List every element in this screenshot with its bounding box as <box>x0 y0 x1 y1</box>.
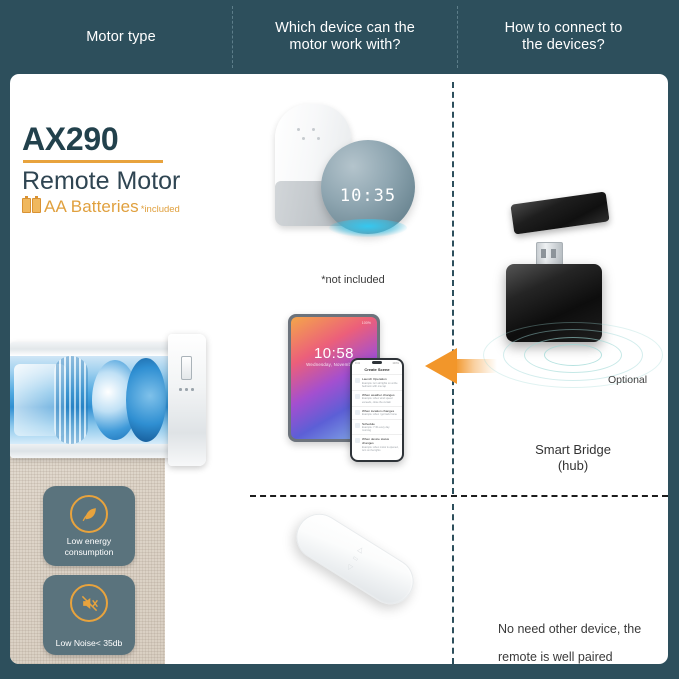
header-label-3: How to connect to the devices? <box>505 20 623 54</box>
battery-text: AA Batteries <box>44 197 139 217</box>
list-item[interactable]: When device status changes Example: when… <box>352 434 402 454</box>
phone-screen: 9:41 100% Create Scene Launch Operation … <box>352 360 402 460</box>
motor-end-cap <box>168 334 206 466</box>
motor-type-panel: AX290 Remote Motor AA Batteries *include… <box>10 74 242 664</box>
no-hub-line-1: No need other device, the <box>498 622 668 636</box>
vertical-divider-top <box>452 82 454 494</box>
list-item[interactable]: When location changes Example: when I go… <box>352 406 402 419</box>
scene-desc: Example: turn all lights on at the bedro… <box>362 382 399 388</box>
leaf-icon <box>70 495 108 533</box>
scene-desc: Example: when I go back home <box>362 413 399 416</box>
title-underline <box>23 160 163 163</box>
phone-app-title: Create Scene <box>352 367 402 372</box>
header-column-connect: How to connect to the devices? <box>458 0 669 74</box>
phone-notch <box>372 361 382 364</box>
scene-name: Launch Operation <box>362 377 399 381</box>
echo-dot-speaker: 10:35 <box>321 140 415 234</box>
tablet-status-bar: 100% <box>362 321 371 325</box>
optional-label: Optional <box>608 374 647 386</box>
scene-icon <box>355 394 360 399</box>
phone-status-battery: 100% <box>392 362 399 365</box>
not-included-note: *not included <box>263 274 443 286</box>
scene-icon <box>355 438 360 443</box>
product-model: AX290 <box>22 122 232 156</box>
list-item[interactable]: Schedule Example: 7:30 every day morning <box>352 419 402 435</box>
mute-speaker-icon <box>70 584 108 622</box>
phone-status-time: 9:41 <box>355 362 360 365</box>
scene-icon <box>355 423 360 428</box>
product-title-block: AX290 Remote Motor AA Batteries *include… <box>22 122 232 217</box>
horizontal-divider <box>250 495 668 497</box>
scene-name: When weather changes <box>362 393 399 397</box>
bridge-sub: (hub) <box>478 458 668 474</box>
remote-control-image: △ ▭ ▽ <box>272 514 442 654</box>
no-hub-description: No need other device, the remote is well… <box>498 622 668 664</box>
battery-note: *included <box>141 204 180 215</box>
scene-name: When location changes <box>362 409 399 413</box>
smart-speakers-image: 10:35 <box>263 96 443 276</box>
scene-name: When device status changes <box>362 437 399 445</box>
scene-icon <box>355 378 360 383</box>
usb-cap <box>510 191 609 234</box>
scene-name: Schedule <box>362 422 399 426</box>
header-label-1: Motor type <box>86 29 156 46</box>
badge-label-low-energy: Low energy consumption <box>43 536 135 557</box>
remote-up-button: △ <box>356 546 364 555</box>
battery-line: AA Batteries *included <box>22 197 232 217</box>
badge-low-energy: Low energy consumption <box>43 486 135 566</box>
motor-product-photo <box>10 334 206 466</box>
remote-stop-button: ▭ <box>350 555 359 564</box>
tablet-phone-image: 100% 10:58 Wednesday, November 11 9:41 1… <box>288 314 428 474</box>
header-column-motor-type: Motor type <box>10 0 232 74</box>
remote-control-device: △ ▭ ▽ <box>288 505 423 613</box>
motor-tube <box>10 342 176 458</box>
speaker-light-ring <box>329 219 407 237</box>
bridge-name: Smart Bridge <box>478 442 668 458</box>
scene-icon <box>355 410 360 415</box>
header-column-device-compat: Which device can the motor work with? <box>233 0 457 74</box>
header-label-2: Which device can the motor work with? <box>275 20 415 54</box>
motor-cutaway <box>10 356 176 444</box>
badge-label-low-noise: Low Noise< 35db <box>43 638 135 649</box>
content-card: AX290 Remote Motor AA Batteries *include… <box>10 74 668 664</box>
speaker-clock-display: 10:35 <box>321 186 415 206</box>
header-bar: Motor type Which device can the motor wo… <box>0 0 679 74</box>
scene-desc: Example: when wind speed exceeds, close … <box>362 397 399 403</box>
scene-desc: Example: 7:30 every day morning <box>362 426 399 432</box>
no-hub-line-2: remote is well paired <box>498 650 668 664</box>
list-item[interactable]: When weather changes Example: when wind … <box>352 390 402 406</box>
vertical-divider-bottom <box>452 504 454 664</box>
product-name: Remote Motor <box>22 167 232 195</box>
list-item[interactable]: Launch Operation Example: turn all light… <box>352 374 402 390</box>
aa-battery-icon <box>22 198 41 213</box>
remote-down-button: ▽ <box>345 564 353 573</box>
phone-device: 9:41 100% Create Scene Launch Operation … <box>350 358 404 462</box>
scene-desc: Example: when motor is opened, turn on t… <box>362 446 399 452</box>
smart-bridge-caption: Smart Bridge (hub) <box>478 442 668 474</box>
feature-badge-list: Low energy consumption Low Noise< 35db <box>43 486 135 664</box>
badge-low-noise: Low Noise< 35db <box>43 575 135 655</box>
